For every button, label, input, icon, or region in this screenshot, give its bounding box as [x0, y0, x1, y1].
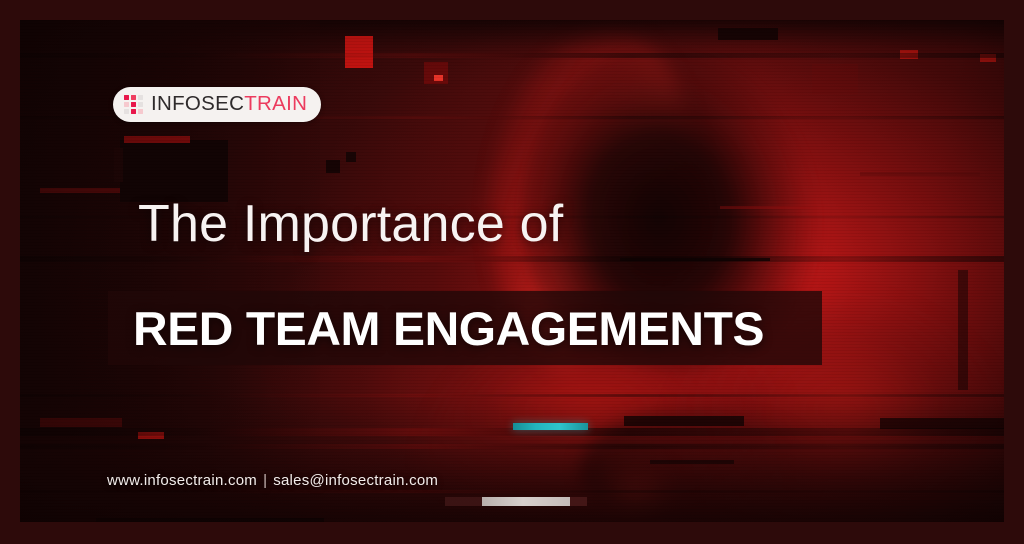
infosectrain-wordmark: INFOSECTRAIN [151, 94, 307, 115]
teal-accent-bar [513, 423, 588, 430]
banner-root: INFOSECTRAIN The Importance of RED TEAM … [0, 0, 1024, 544]
logo-mark-tile-2 [138, 95, 143, 100]
footer-separator: | [257, 472, 273, 489]
logo-mark-tile-6 [124, 109, 129, 114]
footer-contact: www.infosectrain.com|sales@infosectrain.… [107, 472, 438, 489]
title-subline: The Importance of [138, 198, 563, 250]
infosectrain-logo[interactable]: INFOSECTRAIN [113, 87, 321, 122]
infosectrain-logo-mark-icon [124, 95, 143, 114]
logo-mark-tile-5 [138, 102, 143, 107]
logo-mark-tile-8 [138, 109, 143, 114]
logo-mark-tile-1 [131, 95, 136, 100]
footer-website[interactable]: www.infosectrain.com [107, 472, 257, 489]
banner-canvas: INFOSECTRAIN The Importance of RED TEAM … [20, 20, 1004, 522]
page-title: RED TEAM ENGAGEMENTS [133, 305, 764, 352]
logo-mark-tile-3 [124, 102, 129, 107]
wordmark-train: TRAIN [244, 92, 307, 115]
wordmark-infosec: INFOSEC [151, 92, 244, 115]
gray-accent-bar [445, 497, 587, 506]
logo-mark-tile-4 [131, 102, 136, 107]
logo-mark-tile-7 [131, 109, 136, 114]
footer-email[interactable]: sales@infosectrain.com [273, 472, 438, 489]
logo-mark-tile-0 [124, 95, 129, 100]
